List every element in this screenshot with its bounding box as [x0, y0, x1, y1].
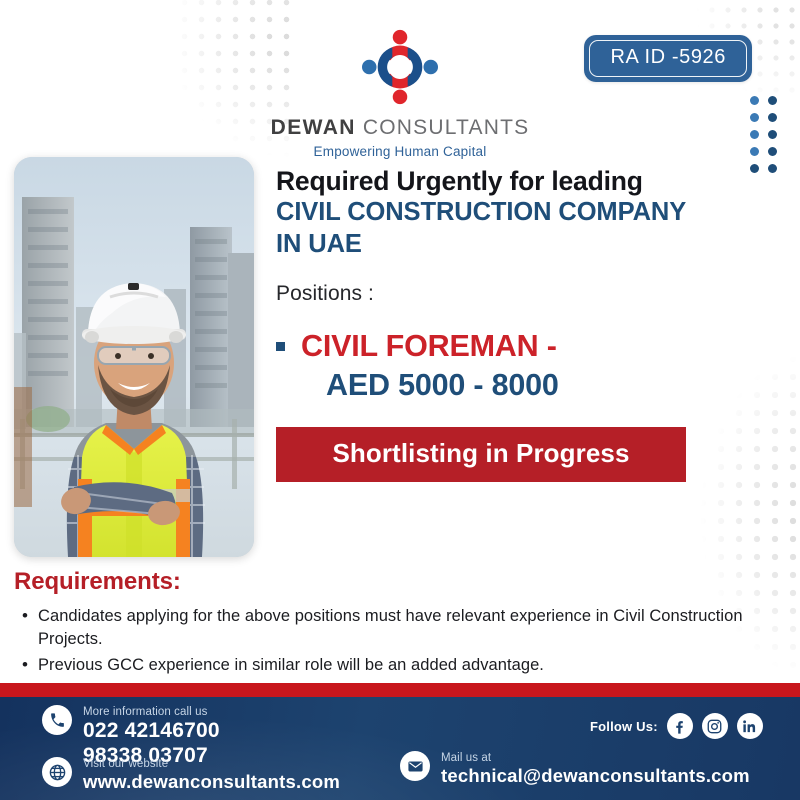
position-salary: AED 5000 - 8000 — [326, 366, 559, 405]
status-badge: Shortlisting in Progress — [276, 427, 686, 482]
instagram-icon[interactable] — [702, 713, 728, 739]
contact-footer: More information call us 022 42146700 98… — [0, 697, 800, 800]
worker-photo — [14, 157, 254, 557]
website-caption: Visit our website — [83, 757, 340, 771]
requirements-heading: Requirements: — [14, 568, 774, 596]
phone-caption: More information call us — [83, 705, 220, 719]
headline-line-2: CIVIL CONSTRUCTION COMPANY — [276, 198, 746, 228]
worker-photo-illustration — [14, 157, 254, 557]
position-title: CIVIL FOREMAN - — [301, 327, 559, 366]
phone-icon — [42, 705, 72, 735]
job-advertisement-poster: RA ID -5926 DEWAN CONSULTANTS Empowering… — [0, 0, 800, 800]
brand-name-bold: DEWAN — [271, 116, 356, 139]
brand-logo-block: DEWAN CONSULTANTS Empowering Human Capit… — [0, 26, 800, 159]
brand-wordmark: DEWAN CONSULTANTS — [0, 116, 800, 140]
globe-icon — [42, 757, 72, 787]
positions-label: Positions : — [276, 282, 746, 306]
facebook-icon[interactable] — [667, 713, 693, 739]
requirements-section: Requirements: Candidates applying for th… — [14, 568, 774, 679]
footer-social-block: Follow Us: — [590, 713, 763, 739]
four-people-circle-logo-icon — [357, 26, 443, 108]
headline-line-3: IN UAE — [276, 230, 746, 260]
red-divider-stripe — [0, 683, 800, 697]
advert-content: Required Urgently for leading CIVIL CONS… — [276, 166, 746, 482]
requirement-item: Previous GCC experience in similar role … — [38, 654, 774, 677]
requirements-list: Candidates applying for the above positi… — [14, 605, 774, 677]
envelope-icon — [400, 751, 430, 781]
linkedin-icon[interactable] — [737, 713, 763, 739]
website-url[interactable]: www.dewanconsultants.com — [83, 771, 340, 793]
footer-website-block: Visit our website www.dewanconsultants.c… — [42, 757, 340, 794]
headline-line-1: Required Urgently for leading — [276, 166, 746, 196]
email-caption: Mail us at — [441, 751, 750, 765]
follow-us-label: Follow Us: — [590, 719, 658, 734]
phone-number-primary: 022 42146700 — [83, 719, 220, 744]
brand-name-light: CONSULTANTS — [363, 116, 529, 139]
square-bullet-icon — [276, 342, 285, 351]
footer-email-block: Mail us at technical@dewanconsultants.co… — [400, 751, 750, 788]
email-address[interactable]: technical@dewanconsultants.com — [441, 765, 750, 787]
requirement-item: Candidates applying for the above positi… — [38, 605, 774, 652]
position-item: CIVIL FOREMAN - AED 5000 - 8000 — [276, 327, 746, 405]
